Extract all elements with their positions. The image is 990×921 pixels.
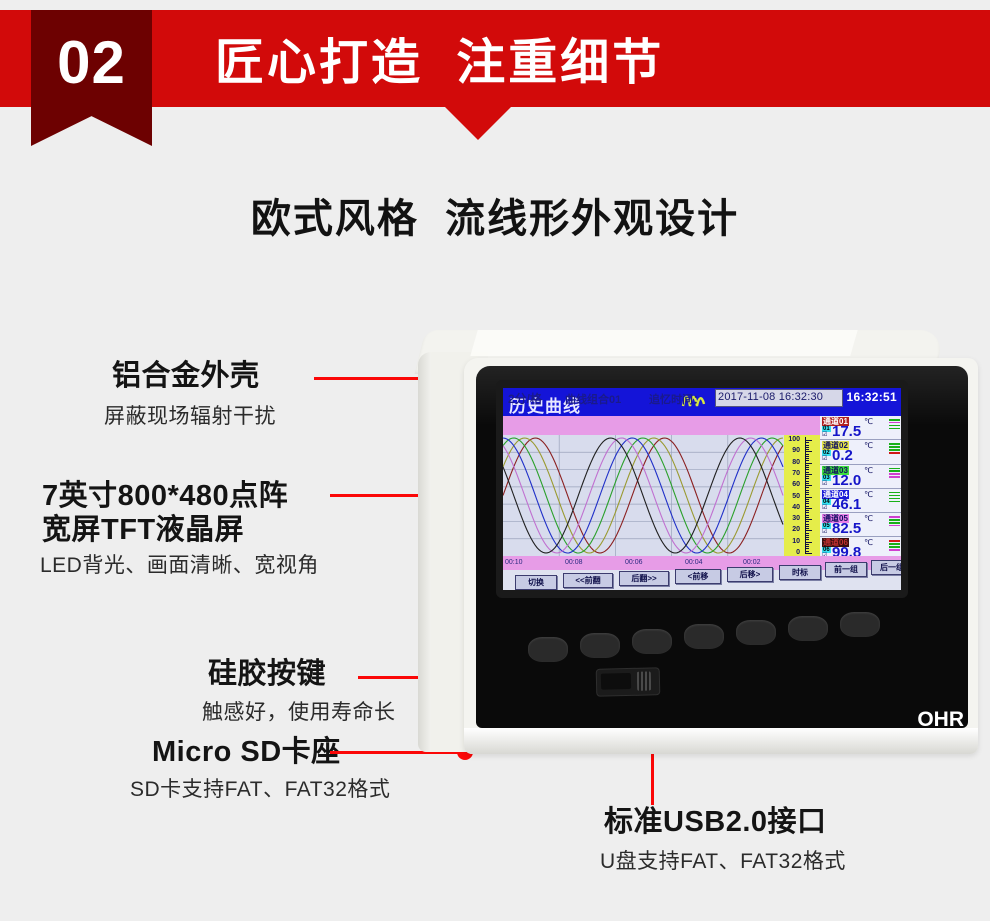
scale-minor-tick: [805, 458, 809, 459]
lcd-screen[interactable]: 历史曲线 2017-11-08 16:32:51 2分/格 曲线组合01 追忆时…: [503, 388, 901, 590]
scale-tick-mark: [805, 474, 812, 475]
channel-bargraph: [889, 540, 900, 552]
device-bottom-shading: [464, 728, 978, 754]
scale-minor-tick: [805, 476, 809, 477]
scale-minor-tick: [805, 551, 809, 552]
lcd-softkey-row: 切换<<前翻后翻>><前移后移>时标前一组后一组: [503, 556, 901, 590]
scale-tick-mark: [805, 451, 812, 452]
channel-checkbox-icon[interactable]: ☑: [822, 456, 827, 462]
scale-tick-label: 80: [792, 459, 800, 466]
scale-tick-label: 50: [792, 493, 800, 500]
channel-value: 12.0: [832, 472, 861, 489]
channel-readout-panel: 通道01℃01☑17.5通道02℃02☑0.2通道03℃03☑12.0通道04℃…: [820, 416, 901, 556]
channel-row[interactable]: 通道03℃03☑12.0: [820, 465, 901, 489]
silicone-key-6[interactable]: [788, 616, 828, 641]
channel-unit: ℃: [864, 538, 873, 547]
trend-curves: [503, 435, 784, 556]
channel-unit: ℃: [864, 514, 873, 523]
scale-minor-tick: [805, 478, 809, 479]
channel-checkbox-icon[interactable]: ☑: [822, 505, 827, 511]
scale-tick-mark: [805, 553, 812, 554]
callout-keys-title: 硅胶按键: [208, 658, 326, 692]
channel-unit: ℃: [864, 466, 873, 475]
scale-minor-tick: [805, 467, 809, 468]
silicone-key-4[interactable]: [684, 624, 724, 649]
scale-tick-label: 70: [792, 470, 800, 477]
scale-minor-tick: [805, 526, 809, 527]
lcd-interval-label: 2分/格: [508, 390, 542, 407]
scale-tick-mark: [805, 440, 812, 441]
lcd-value-scale: 0102030405060708090100: [784, 435, 820, 556]
lcd-softkey-1[interactable]: 切换: [515, 575, 557, 590]
scale-minor-tick: [805, 472, 809, 473]
scale-minor-tick: [805, 539, 809, 540]
lcd-softkey-6[interactable]: 时标: [779, 565, 821, 580]
trend-line-通道06: [503, 438, 783, 553]
scale-minor-tick: [805, 501, 809, 502]
scale-minor-tick: [805, 521, 809, 522]
channel-unit: ℃: [864, 441, 873, 450]
section-number: 02: [31, 10, 152, 116]
scale-minor-tick: [805, 492, 809, 493]
scale-minor-tick: [805, 517, 809, 518]
scale-minor-tick: [805, 449, 809, 450]
scale-tick-label: 30: [792, 515, 800, 522]
lcd-softkey-2[interactable]: <<前翻: [563, 573, 613, 588]
callout-usb-sub: U盘支持FAT、FAT32格式: [600, 849, 846, 874]
scale-minor-tick: [805, 512, 809, 513]
scale-tick-mark: [805, 530, 812, 531]
banner-notch-icon: [444, 106, 512, 140]
silicone-key-2[interactable]: [580, 633, 620, 658]
scale-minor-tick: [805, 546, 809, 547]
scale-minor-tick: [805, 490, 809, 491]
scale-tick-label: 40: [792, 504, 800, 511]
scale-minor-tick: [805, 465, 809, 466]
scale-tick-label: 90: [792, 447, 800, 454]
scale-minor-tick: [805, 544, 809, 545]
channel-checkbox-icon[interactable]: ☑: [822, 481, 827, 487]
scale-minor-tick: [805, 535, 809, 536]
scale-minor-tick: [805, 445, 809, 446]
silicone-key-1[interactable]: [528, 637, 568, 662]
lcd-recall-time-value: 2017-11-08 16:32:30: [718, 391, 823, 403]
scale-minor-tick: [805, 469, 809, 470]
trend-plot-area[interactable]: [503, 435, 784, 556]
scale-tick-label: 0: [796, 549, 800, 556]
scale-minor-tick: [805, 510, 809, 511]
lcd-curve-group[interactable]: 曲线组合01: [565, 391, 621, 407]
channel-bargraph: [889, 516, 900, 528]
scale-minor-tick: [805, 499, 809, 500]
scale-minor-tick: [805, 528, 809, 529]
callout-lcd-sub: LED背光、画面清晰、宽视角: [40, 553, 319, 578]
scale-tick-mark: [805, 519, 812, 520]
scale-minor-tick: [805, 524, 809, 525]
scale-tick-mark: [805, 508, 812, 509]
channel-value: 0.2: [832, 447, 853, 464]
channel-row[interactable]: 通道05℃05☑82.5: [820, 513, 901, 537]
silicone-key-7[interactable]: [840, 612, 880, 637]
device-left-shading: [418, 352, 431, 752]
scale-minor-tick: [805, 481, 809, 482]
callout-sdcard-sub: SD卡支持FAT、FAT32格式: [130, 777, 390, 802]
lcd-softkey-7[interactable]: 前一组: [825, 562, 867, 577]
scale-minor-tick: [805, 442, 809, 443]
callout-aluminium-sub: 屏蔽现场辐射干扰: [104, 404, 276, 429]
scale-minor-tick: [805, 515, 809, 516]
scale-tick-mark: [805, 463, 812, 464]
brand-logo: OHR: [917, 708, 964, 732]
silicone-key-3[interactable]: [632, 629, 672, 654]
usb-port-slot: [601, 673, 631, 690]
channel-checkbox-icon[interactable]: ☑: [822, 432, 827, 438]
scale-minor-tick: [805, 506, 809, 507]
scale-minor-tick: [805, 487, 809, 488]
channel-bargraph: [889, 419, 900, 431]
channel-unit: ℃: [864, 417, 873, 426]
channel-row[interactable]: 通道04℃04☑46.1: [820, 489, 901, 513]
scale-tick-label: 60: [792, 481, 800, 488]
scale-tick-label: 20: [792, 526, 800, 533]
scale-tick-label: 10: [792, 538, 800, 545]
scale-minor-tick: [805, 454, 809, 455]
scale-minor-tick: [805, 456, 809, 457]
callout-aluminium-title: 铝合金外壳: [112, 360, 260, 394]
banner-title: 匠心打造 注重细节: [215, 10, 664, 107]
channel-checkbox-icon[interactable]: ☑: [822, 529, 827, 535]
scale-tick-label: 100: [788, 436, 800, 443]
scale-minor-tick: [805, 537, 809, 538]
scale-tick-mark: [805, 542, 812, 543]
callout-sdcard-title: Micro SD卡座: [152, 736, 341, 770]
scale-minor-tick: [805, 447, 809, 448]
channel-bargraph: [889, 468, 900, 480]
scale-minor-tick: [805, 460, 809, 461]
scale-minor-tick: [805, 494, 809, 495]
callout-keys-sub: 触感好，使用寿命长: [202, 700, 396, 725]
scale-minor-tick: [805, 503, 809, 504]
scale-minor-tick: [805, 483, 809, 484]
lcd-softkey-4[interactable]: <前移: [675, 569, 721, 584]
channel-value: 46.1: [832, 496, 861, 513]
channel-bargraph: [889, 492, 900, 504]
scale-minor-tick: [805, 548, 809, 549]
scale-tick-mark: [805, 497, 812, 498]
lcd-softkey-8[interactable]: 后一组: [871, 560, 901, 575]
leader-line-aluminium: [314, 377, 426, 380]
device-top-label-sheet: [470, 330, 857, 356]
lcd-softkey-5[interactable]: 后移>: [727, 567, 773, 582]
channel-value: 82.5: [832, 520, 861, 537]
lcd-recall-time-label: 追忆时间：: [649, 391, 704, 407]
lcd-softkey-3[interactable]: 后翻>>: [619, 571, 669, 586]
channel-row[interactable]: 通道02℃02☑0.2: [820, 440, 901, 464]
page-subtitle: 欧式风格 流线形外观设计: [0, 186, 990, 244]
usb-sd-port-door[interactable]: [596, 667, 661, 697]
channel-bargraph: [889, 443, 900, 455]
channel-unit: ℃: [864, 490, 873, 499]
paperless-recorder-device: 历史曲线 2017-11-08 16:32:51 2分/格 曲线组合01 追忆时…: [418, 330, 978, 760]
silicone-key-5[interactable]: [736, 620, 776, 645]
channel-value: 17.5: [832, 423, 861, 440]
channel-row[interactable]: 通道01℃01☑17.5: [820, 416, 901, 440]
scale-minor-tick: [805, 533, 809, 534]
callout-usb-title: 标准USB2.0接口: [604, 806, 827, 840]
port-door-grip: [637, 671, 651, 690]
scale-tick-mark: [805, 485, 812, 486]
callout-lcd-title: 7英寸800*480点阵 宽屏TFT液晶屏: [42, 480, 288, 547]
